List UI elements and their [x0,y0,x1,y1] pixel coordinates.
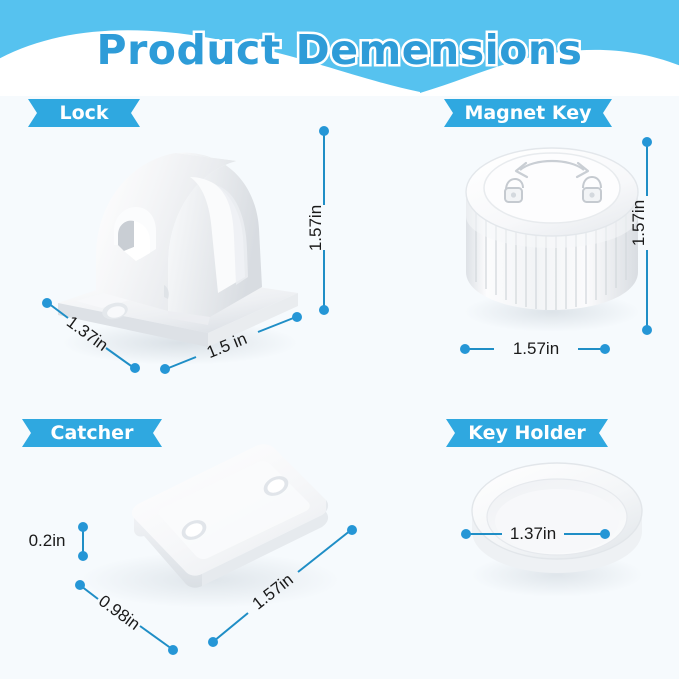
section-label-text: Catcher [22,419,162,447]
section-label-lock: Lock [28,99,140,127]
dimension-label-keyholder-diameter: 1.37in [510,524,556,544]
section-label-catcher: Catcher [22,419,162,447]
dimension-label-lock-height: 1.57in [306,205,326,251]
dimension-label-magnet-diameter: 1.57in [513,339,559,359]
section-label-key-holder: Key Holder [446,419,608,447]
product-image-key-holder [462,455,652,605]
section-label-text: Magnet Key [444,99,612,127]
product-image-magnet-key [452,130,652,340]
page-title: Product Demensions [0,26,679,74]
product-dimensions-infographic: Product Demensions Lock Magnet Key Catch… [0,0,679,679]
section-label-text: Lock [28,99,140,127]
dimension-label-catcher-thickness: 0.2in [29,531,66,551]
section-label-text: Key Holder [446,419,608,447]
dimension-label-magnet-height: 1.57in [629,200,649,246]
section-label-magnet-key: Magnet Key [444,99,612,127]
